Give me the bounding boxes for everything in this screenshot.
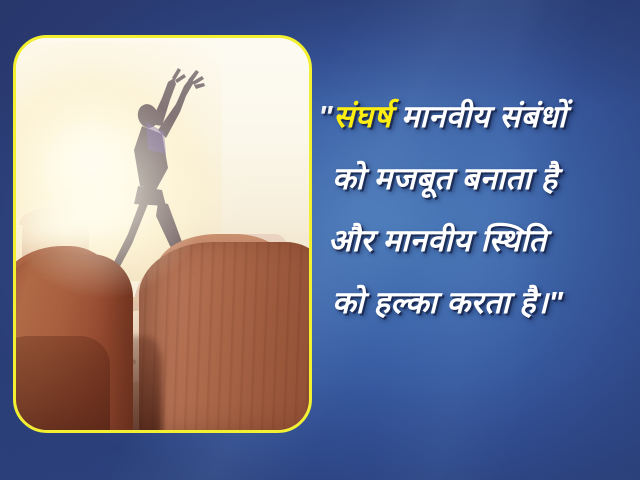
photo-card: [13, 35, 312, 433]
quote-line-2: को मजबूत बनाता है: [318, 148, 636, 210]
quote-line-1: "संघर्ष मानवीय संबंधों: [318, 86, 636, 148]
quote-poster: "संघर्ष मानवीय संबंधों को मजबूत बनाता है…: [0, 0, 640, 480]
quote-line-3: और मानवीय स्थिति: [318, 210, 636, 272]
quote-highlight-word: संघर्ष: [333, 99, 392, 134]
quote-block: "संघर्ष मानवीय संबंधों को मजबूत बनाता है…: [318, 86, 636, 334]
quote-line-4: को हल्का करता है।": [318, 272, 636, 334]
open-quote-mark: ": [318, 99, 333, 134]
photo-image: [16, 38, 309, 430]
foreground-rock-right-striations: [139, 242, 309, 430]
quote-line-1-rest: मानवीय संबंधों: [392, 99, 567, 134]
foreground-rock-left-shadow: [16, 336, 110, 430]
